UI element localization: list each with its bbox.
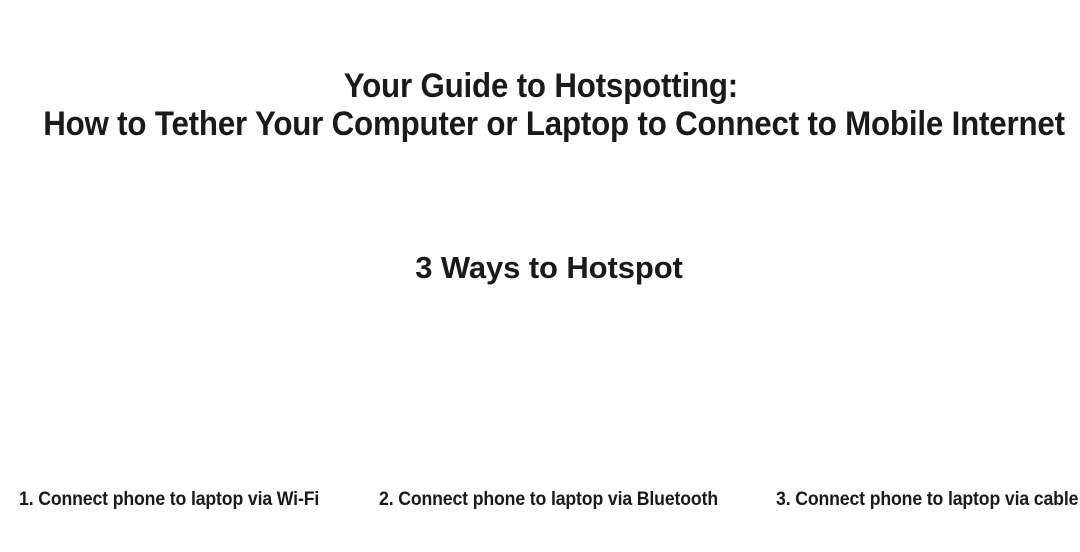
page-title-line-1: Your Guide to Hotspotting: [45,67,1037,105]
method-caption-bluetooth: 2. Connect phone to laptop via Bluetooth [379,487,718,513]
method-caption-row: 1. Connect phone to laptop via Wi-Fi 2. … [0,487,1080,513]
page-title: Your Guide to Hotspotting: How to Tether… [43,67,1037,143]
illustration-slot-bluetooth [360,282,720,480]
illustration-slot-cable [720,282,1080,480]
article-page: Your Guide to Hotspotting: How to Tether… [0,0,1080,552]
method-caption-cable: 3. Connect phone to laptop via cable [776,487,1078,513]
illustration-slot-wifi [0,282,360,480]
page-title-line-2: How to Tether Your Computer or Laptop to… [43,105,1037,143]
method-caption-wifi: 1. Connect phone to laptop via Wi-Fi [19,487,319,513]
illustration-band [0,282,1080,480]
